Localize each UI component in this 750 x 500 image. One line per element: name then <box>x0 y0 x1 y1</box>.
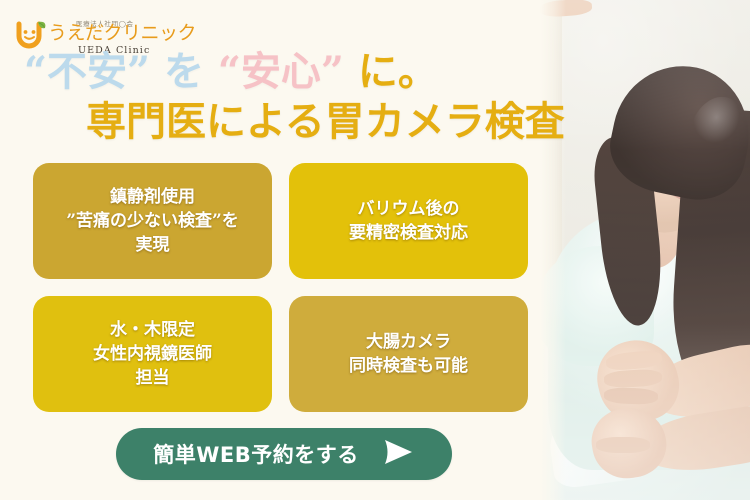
headline-particle-wo: を <box>164 48 204 95</box>
play-triangle-right-icon <box>381 438 415 470</box>
feature-box-label: 鎮静剤使用 ”苦痛の少ない検査”を 実現 <box>66 185 239 257</box>
feature-box-label: バリウム後の 要精密検査対応 <box>349 197 468 245</box>
web-reservation-button[interactable]: 簡単WEB予約をする <box>116 428 452 480</box>
feature-box-label: 大腸カメラ 同時検査も可能 <box>349 330 468 378</box>
logo-clinic-name-ja: うえだクリニック <box>48 24 196 43</box>
feature-box-colonoscopy: 大腸カメラ 同時検査も可能 <box>289 296 528 412</box>
feature-box-grid: 鎮静剤使用 ”苦痛の少ない検査”を 実現 バリウム後の 要精密検査対応 水・木限… <box>33 163 528 412</box>
headline-suffix-ni: に。 <box>358 48 438 95</box>
headline-word-anxiety: “不安” <box>24 48 150 95</box>
feature-box-label: 水・木限定 女性内視鏡医師 担当 <box>93 318 212 390</box>
headline-block: “不安” を “安心” に。 専門医による胃カメラ検査 <box>0 52 540 142</box>
headline-line-2: 専門医による胃カメラ検査 <box>0 102 540 142</box>
feature-box-female-endoscopist: 水・木限定 女性内視鏡医師 担当 <box>33 296 272 412</box>
web-reservation-label: 簡単WEB予約をする <box>153 439 359 469</box>
feature-box-sedation: 鎮静剤使用 ”苦痛の少ない検査”を 実現 <box>33 163 272 279</box>
clinic-promo-banner: 医療法人社団◯会 うえだクリニック UEDA Clinic “不安” を “安心… <box>0 0 750 500</box>
feature-box-post-barium: バリウム後の 要精密検査対応 <box>289 163 528 279</box>
smiling-u-leaf-logo-icon <box>14 20 48 50</box>
patient-photo <box>540 0 750 500</box>
photo-finger <box>596 437 650 453</box>
headline-line-1: “不安” を “安心” に。 <box>0 52 540 92</box>
headline-word-relief: “安心” <box>218 48 344 95</box>
